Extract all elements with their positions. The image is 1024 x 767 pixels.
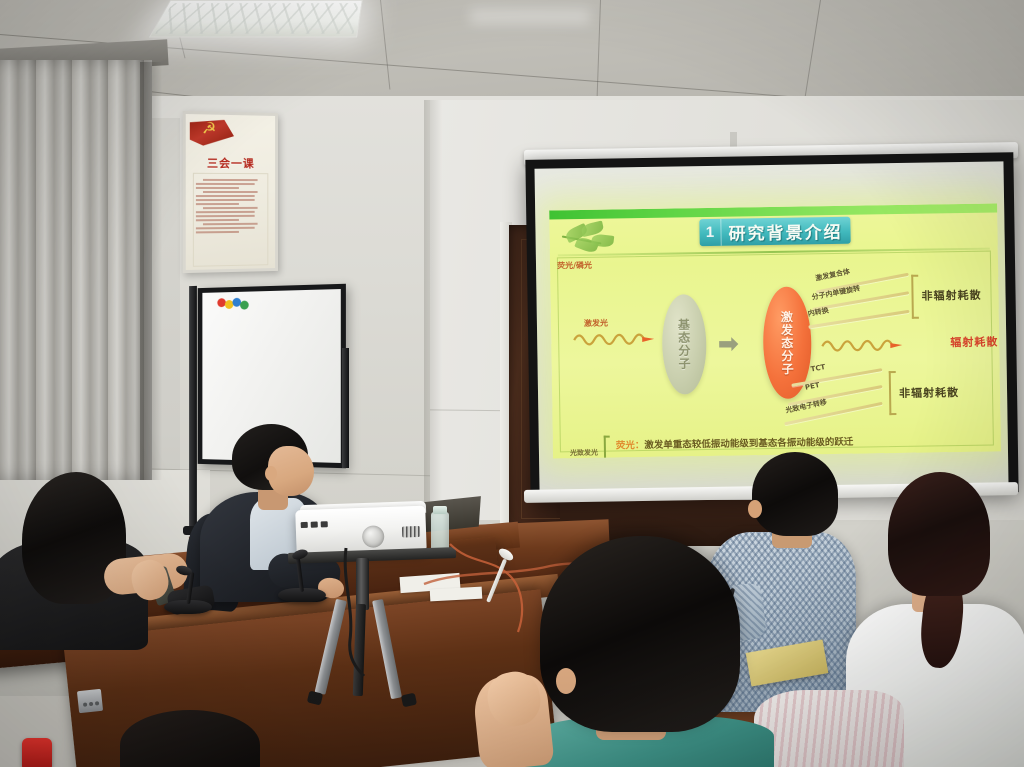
brace-upper [911,275,919,319]
slide-title: 研究背景介绍 [728,218,842,245]
upper-result-label: 非辐射耗散 [921,287,981,304]
wall-corner-shadow [424,100,442,530]
ground-state-molecule: 基态分子 [661,294,707,395]
foreground-attendee-ear [556,668,576,694]
ceiling-light-glow [470,8,590,24]
curtain-edge-shadow [140,62,162,480]
pathway-label-lower-1: TCT [810,363,826,373]
window-curtain [0,60,152,480]
excitation-wave-icon [572,327,656,348]
brace-lower [889,371,897,415]
whiteboard-magnets[interactable] [217,297,251,311]
leaf-decoration-icon [559,222,619,253]
fluorescence-key: 荧光： [616,440,645,451]
water-bottle-cap [433,506,447,514]
lower-result-label: 非辐射耗散 [899,384,959,401]
presentation-slide: 1 研究背景介绍 激发光 基态分子 [549,203,1001,458]
photoluminescence-label: 光致发光 [570,448,598,458]
red-thermos[interactable] [22,738,52,767]
emission-wave-icon [820,333,904,354]
presenter-ear [265,466,277,481]
note-taker-hair [752,452,838,536]
photophysics-diagram: 激发光 基态分子 ➡ 激发态分子 [557,254,994,453]
projector-ports [301,521,328,528]
whiteboard-right-leg [342,348,349,468]
foreground-attendee-hair [540,536,740,732]
transition-arrow-icon: ➡ [718,335,752,353]
middle-result-label: 辐射耗散 [950,333,998,350]
projector-vent [402,526,420,538]
pathway-label-upper-3: 内转换 [807,306,829,319]
projection-screen-frame: 1 研究背景介绍 激发光 基态分子 [525,152,1018,500]
excited-state-label: 激发态分子 [778,310,796,375]
slide-title-badge: 1 研究背景介绍 [699,217,850,246]
ponytail-attendee-hair [888,472,990,596]
ground-state-label: 基态分子 [675,318,693,370]
ceiling-light-panel [149,0,363,37]
phosphorescence-text: 激发三重态的最低振动能级到基态各振动能级的跃迁。 [645,455,873,458]
footer-brace [604,436,611,459]
striped-shirt-body [754,690,904,767]
poster-body [193,173,268,267]
poster-title: 三会一课 [186,155,275,172]
table-hinge-screws [81,693,101,713]
note-taker-ear [748,500,762,518]
projection-screen-surface: 1 研究背景介绍 激发光 基态分子 [535,161,1009,490]
pathway-label-upper-1: 激发复合体 [815,267,851,284]
wall-poster: 三会一课 [183,111,278,273]
pathway-label-lower-2: PET [804,381,820,392]
conference-room-photo: 三会一课 [0,0,1024,767]
slide-footer-note: 光致发光 荧光：激发单重态较低振动能级到基态各振动能级的跃迁 磷光：激发三重态的… [608,428,978,434]
party-emblem-icon [190,119,234,146]
slide-number: 1 [699,219,721,246]
whiteboard-left-leg [189,286,197,534]
